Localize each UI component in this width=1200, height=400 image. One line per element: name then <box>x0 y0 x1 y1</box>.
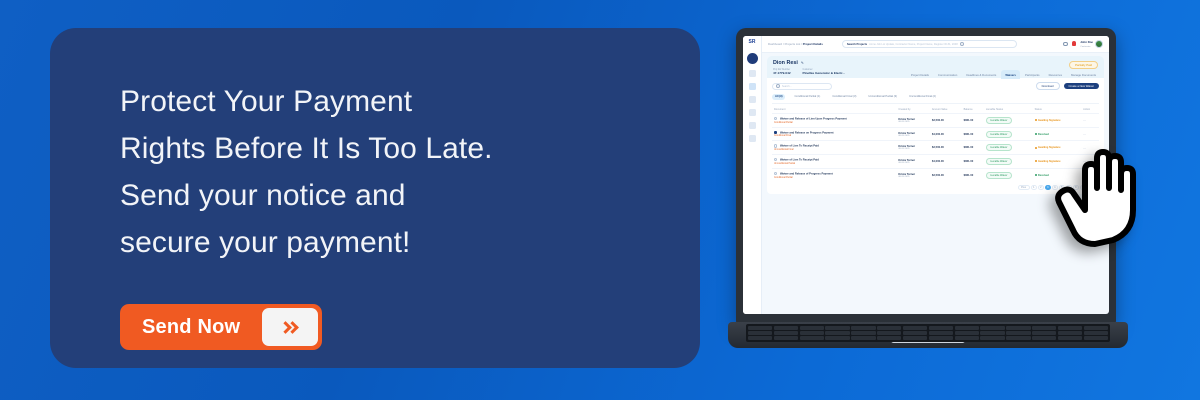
table-row[interactable]: Waiver and Release of Lien Upon Progress… <box>772 114 1099 128</box>
col-action: Action <box>1081 106 1099 114</box>
row-amount: $3,500.00 <box>930 114 962 128</box>
waivers-table: Document Created by Amount Value Balance… <box>772 106 1099 182</box>
row-amount: $3,500.00 <box>930 168 962 181</box>
row-document: Waiver and Release on Progress Payment <box>780 131 834 134</box>
search-value: Search Projects <box>847 43 867 46</box>
search-icon <box>960 42 964 46</box>
headline-line-3: Send your notice and <box>120 172 680 219</box>
breadcrumb-projects[interactable]: Projects List <box>785 42 801 46</box>
row-balance: $861.00 <box>962 114 984 128</box>
top-bar: Dashboard / Projects List / Project Deta… <box>762 36 1109 53</box>
table-body: Waiver and Release of Lien Upon Progress… <box>772 114 1099 182</box>
breadcrumb-current: Project Details <box>803 42 823 46</box>
col-document: Document <box>772 106 896 114</box>
chip-unconditional-partial[interactable]: Unconditional Partial (3) <box>865 94 900 99</box>
row-tag: Conditional Final <box>774 135 894 137</box>
table-head: Document Created by Amount Value Balance… <box>772 106 1099 114</box>
chip-unconditional-final[interactable]: Unconditional Final (2) <box>906 94 939 99</box>
project-title: Dion Resi ✎ <box>773 60 1098 66</box>
table-row[interactable]: Waiver and Release of Progress Payment C… <box>772 168 1099 181</box>
user-menu[interactable]: John Doe Contractor <box>1080 40 1103 48</box>
double-chevron-right-icon <box>262 308 318 346</box>
pagination-prev[interactable]: Prev <box>1018 185 1030 191</box>
tab-waivers[interactable]: Waivers <box>1001 70 1020 79</box>
table-row[interactable]: Waiver of Lien To Receipt Paid Unconditi… <box>772 141 1099 155</box>
tab-deadlines-documents[interactable]: Deadlines & Documents <box>962 70 1000 79</box>
col-created-by: Created by <box>896 106 930 114</box>
row-checkbox[interactable] <box>774 172 777 175</box>
headline-line-1: Protect Your Payment <box>120 78 680 125</box>
row-created-on: 08-20-2025 <box>898 148 928 150</box>
send-now-label: Send Now <box>142 316 262 339</box>
field-customer: Customer Pinellas Generator & Electr... <box>803 69 845 75</box>
app-logo: SR <box>749 40 756 45</box>
sidebar-item-documents[interactable] <box>749 83 756 90</box>
pagination-page-2[interactable]: 2 <box>1038 185 1044 191</box>
pagination-page-3[interactable]: 3 <box>1045 185 1051 191</box>
chip-conditional-final[interactable]: Conditional Final (3) <box>829 94 859 99</box>
row-document: Waiver of Lien To Receipt Paid <box>780 145 819 148</box>
download-button[interactable]: Download <box>1036 82 1060 90</box>
table-row[interactable]: Waiver of Lien To Receipt Paid Unconditi… <box>772 155 1099 169</box>
row-created-on: 08-20-2025 <box>898 162 928 164</box>
create-waiver-button[interactable]: Create a New Waiver <box>1064 83 1099 90</box>
row-document: Waiver of Lien To Receipt Paid <box>780 158 819 161</box>
col-status: Status <box>1033 106 1082 114</box>
table-search-placeholder: Search... <box>782 85 792 88</box>
table-header-row: Document Created by Amount Value Balance… <box>772 106 1099 114</box>
project-header-card: Dion Resi ✎ Partially Paid Proj Ref Numb… <box>767 56 1104 78</box>
field-proj-ref: Proj Ref Number 47-1779-042 <box>773 69 791 75</box>
col-balance: Balance <box>962 106 984 114</box>
headline-line-2: Rights Before It Is Too Late. <box>120 125 680 172</box>
topbar-icons: John Doe Contractor <box>1063 40 1103 48</box>
sidebar-item-projects[interactable] <box>749 70 756 77</box>
status-badge[interactable]: Partially Paid <box>1069 61 1098 69</box>
user-role: Contractor <box>1080 46 1090 48</box>
row-status: Received <box>1035 174 1049 177</box>
pagination: Prev 1 2 3 4 5 ... 9 10 Next <box>772 185 1099 191</box>
pagination-page-1[interactable]: 1 <box>1031 185 1037 191</box>
sidebar-item-team[interactable] <box>749 122 756 129</box>
breadcrumb-dashboard[interactable]: Dashboard <box>768 42 782 46</box>
sidebar-item-reports[interactable] <box>749 109 756 116</box>
field-customer-value: Pinellas Generator & Electr... <box>803 71 845 75</box>
project-title-text: Dion Resi <box>773 60 798 66</box>
tab-resources[interactable]: Resources <box>1045 70 1066 79</box>
pointing-hand-cursor-icon <box>1055 140 1155 255</box>
col-amount: Amount Value <box>930 106 962 114</box>
tab-manage-documents[interactable]: Manage Documents <box>1067 70 1100 79</box>
row-created-on: 08-20-2025 <box>898 135 928 137</box>
waivers-panel: Search... Download Create a New Waiver A… <box>767 78 1104 194</box>
laptop-keyboard <box>746 324 1110 342</box>
row-lienable-badge: Lienable Waiver <box>986 158 1012 165</box>
row-balance: $861.00 <box>962 127 984 141</box>
row-checkbox[interactable] <box>774 131 777 134</box>
more-options-icon[interactable]: ⋯ <box>1081 127 1099 141</box>
sidebar-rail: SR <box>743 36 762 314</box>
user-name: John Doe <box>1080 40 1093 44</box>
avatar[interactable] <box>1095 40 1103 48</box>
row-document: Waiver and Release of Progress Payment <box>780 172 833 175</box>
row-lienable-badge: Lienable Waiver <box>986 117 1012 124</box>
pencil-icon[interactable]: ✎ <box>801 61 804 65</box>
sidebar-item-settings[interactable] <box>749 135 756 142</box>
row-checkbox[interactable] <box>774 144 777 147</box>
row-lienable-badge: Lienable Waiver <box>986 131 1012 138</box>
notification-bell-icon[interactable] <box>1072 41 1077 46</box>
search-icon <box>776 84 780 88</box>
promo-banner: Protect Your Payment Rights Before It Is… <box>0 0 1200 400</box>
row-status: Received <box>1035 133 1049 136</box>
row-tag: Conditional Partial <box>774 122 894 124</box>
search-placeholder: Acme Job Lot Update, Contractor Name, Pr… <box>869 43 958 46</box>
tab-bar: Project Details Communication Deadlines … <box>907 70 1100 79</box>
promo-panel: Protect Your Payment Rights Before It Is… <box>50 28 700 368</box>
tab-communication[interactable]: Communication <box>934 70 961 79</box>
tab-project-details[interactable]: Project Details <box>907 70 933 79</box>
row-balance: $861.00 <box>962 141 984 155</box>
filter-chips: All (9) Conditional Partial (1) Conditio… <box>772 94 1099 103</box>
table-row[interactable]: Waiver and Release on Progress Payment C… <box>772 127 1099 141</box>
table-search-input[interactable]: Search... <box>772 83 832 90</box>
more-options-icon[interactable]: ⋯ <box>1081 114 1099 128</box>
col-lienable: Lienable Status <box>984 106 1033 114</box>
row-balance: $861.00 <box>962 155 984 169</box>
row-lienable-badge: Lienable Waiver <box>986 144 1012 151</box>
row-tag: Conditional Partial <box>774 177 894 179</box>
row-amount: $4,000.00 <box>930 155 962 169</box>
breadcrumb[interactable]: Dashboard / Projects List / Project Deta… <box>768 42 823 46</box>
row-balance: $861.00 <box>962 168 984 181</box>
row-tag: Unconditional Partial <box>774 163 894 165</box>
chip-all[interactable]: All (9) <box>772 94 785 99</box>
row-lienable-badge: Lienable Waiver <box>986 172 1012 179</box>
row-amount: $4,000.00 <box>930 127 962 141</box>
row-created-on: 08-20-2025 <box>898 121 928 123</box>
sidebar-item-calendar[interactable] <box>749 96 756 103</box>
row-created-on: 08-20-2025 <box>898 176 928 178</box>
toolbar: Search... Download Create a New Waiver <box>772 82 1099 90</box>
row-checkbox[interactable] <box>774 117 777 120</box>
headline-line-4: secure your payment! <box>120 219 680 266</box>
gear-icon[interactable] <box>1063 42 1068 47</box>
row-amount: $3,500.00 <box>930 141 962 155</box>
page-title: Protect Your Payment Rights Before It Is… <box>120 78 680 266</box>
row-checkbox[interactable] <box>774 158 777 161</box>
search-input[interactable]: Search Projects Acme Job Lot Update, Con… <box>842 40 1017 48</box>
sidebar-item-dashboard[interactable] <box>747 53 758 64</box>
tab-participants[interactable]: Participants <box>1021 70 1044 79</box>
field-proj-ref-value: 47-1779-042 <box>773 71 791 75</box>
row-status: Awaiting Signature <box>1035 119 1061 122</box>
row-document: Waiver and Release of Lien Upon Progress… <box>780 117 847 120</box>
send-now-button[interactable]: Send Now <box>120 304 322 350</box>
row-tag: Unconditional Final <box>774 149 894 151</box>
chip-conditional-partial[interactable]: Conditional Partial (1) <box>791 94 823 99</box>
